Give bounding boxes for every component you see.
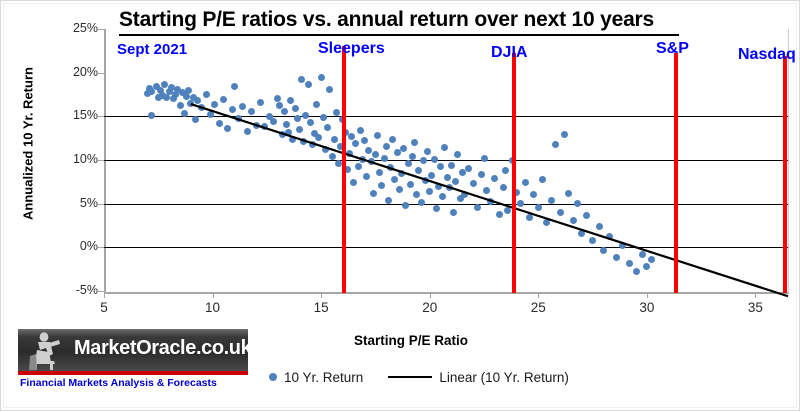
y-tick-mark [98,29,104,30]
x-tick-mark [430,292,431,298]
x-tick-mark [755,292,756,298]
marker-label-sleepers: Sleepers [318,40,385,58]
logo-brand-text: MarketOracle.co.uk [74,337,251,360]
y-tick-mark [98,116,104,117]
legend-label-trend: Linear (10 Yr. Return) [439,370,569,385]
x-tick-mark [104,292,105,298]
x-tick-label: 10 [193,300,233,315]
x-tick-mark [647,292,648,298]
y-axis-title: Annualized 10 Yr. Return [21,29,36,259]
marker-line-sleepers [342,46,346,293]
plot-right-edge [788,29,789,293]
y-tick-label: 15% [52,108,98,122]
logo-accent-bar [18,371,248,375]
x-axis-line [104,292,789,294]
x-tick-label: 35 [735,300,775,315]
trendline-linear [104,29,788,291]
y-tick-label: 25% [52,21,98,35]
y-tick-label: 10% [52,152,98,166]
marker-line-s-p [674,53,678,293]
y-tick-mark [98,291,104,292]
seated-reader-icon [24,330,72,371]
x-tick-mark [213,292,214,298]
x-tick-label: 25 [518,300,558,315]
y-tick-mark [98,247,104,248]
line-marker-icon [388,376,432,378]
chart-container: Starting P/E ratios vs. annual return ov… [0,0,800,411]
x-tick-label: 5 [84,300,124,315]
y-tick-label: -5% [52,283,98,297]
x-tick-mark [321,292,322,298]
marker-label-s-p: S&P [656,40,689,58]
y-tick-mark [98,160,104,161]
x-axis-title: Starting P/E Ratio [281,333,541,348]
chart-legend: 10 Yr. Return Linear (10 Yr. Return) [269,367,569,387]
y-tick-mark [98,73,104,74]
logo-tagline: Financial Markets Analysis & Forecasts [20,377,248,389]
marker-label-djia: DJIA [491,44,527,62]
marker-line-nasdaq [783,56,787,293]
marker-label-nasdaq: Nasdaq [738,46,796,64]
x-tick-label: 30 [627,300,667,315]
x-tick-label: 20 [410,300,450,315]
marketoracle-logo[interactable]: MarketOracle.co.uk Financial Markets Ana… [18,329,248,391]
y-tick-label: 0% [52,239,98,253]
marker-line-djia [512,53,516,293]
circle-marker-icon [269,373,277,381]
y-tick-mark [98,204,104,205]
legend-label-scatter: 10 Yr. Return [284,370,363,385]
x-tick-mark [538,292,539,298]
y-tick-label: 5% [52,196,98,210]
y-tick-label: 20% [52,65,98,79]
plot-area [104,29,788,291]
x-tick-label: 15 [301,300,341,315]
